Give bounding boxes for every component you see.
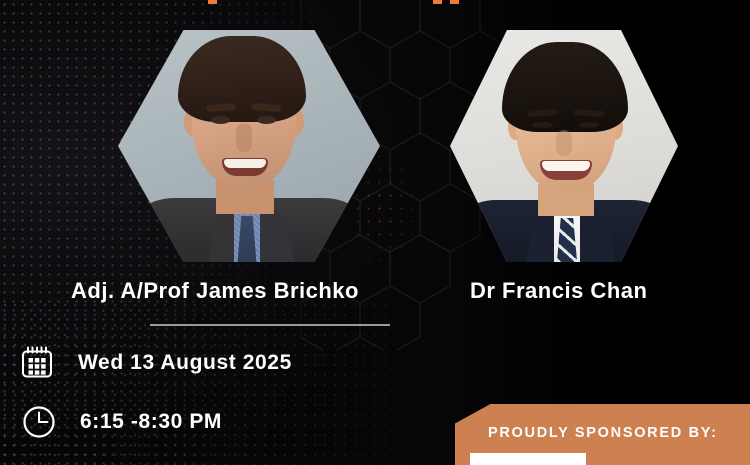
cropped-title-fragments — [0, 0, 750, 5]
event-time-label: 6:15 -8:30 PM — [80, 410, 222, 434]
calendar-icon — [14, 340, 60, 386]
event-date-row: Wed 13 August 2025 — [14, 340, 292, 386]
event-date-label: Wed 13 August 2025 — [78, 351, 292, 375]
sponsor-logo-placeholder — [470, 453, 586, 465]
speaker-name-1: Adj. A/Prof James Brichko — [71, 278, 359, 304]
event-time-row: 6:15 -8:30 PM — [16, 399, 222, 445]
sponsor-heading: PROUDLY SPONSORED BY: — [488, 425, 718, 441]
speaker-name-2: Dr Francis Chan — [470, 278, 647, 304]
section-divider — [150, 324, 390, 326]
clock-icon — [16, 399, 62, 445]
event-poster: Adj. A/Prof James Brichko Dr Francis Cha… — [0, 0, 750, 465]
